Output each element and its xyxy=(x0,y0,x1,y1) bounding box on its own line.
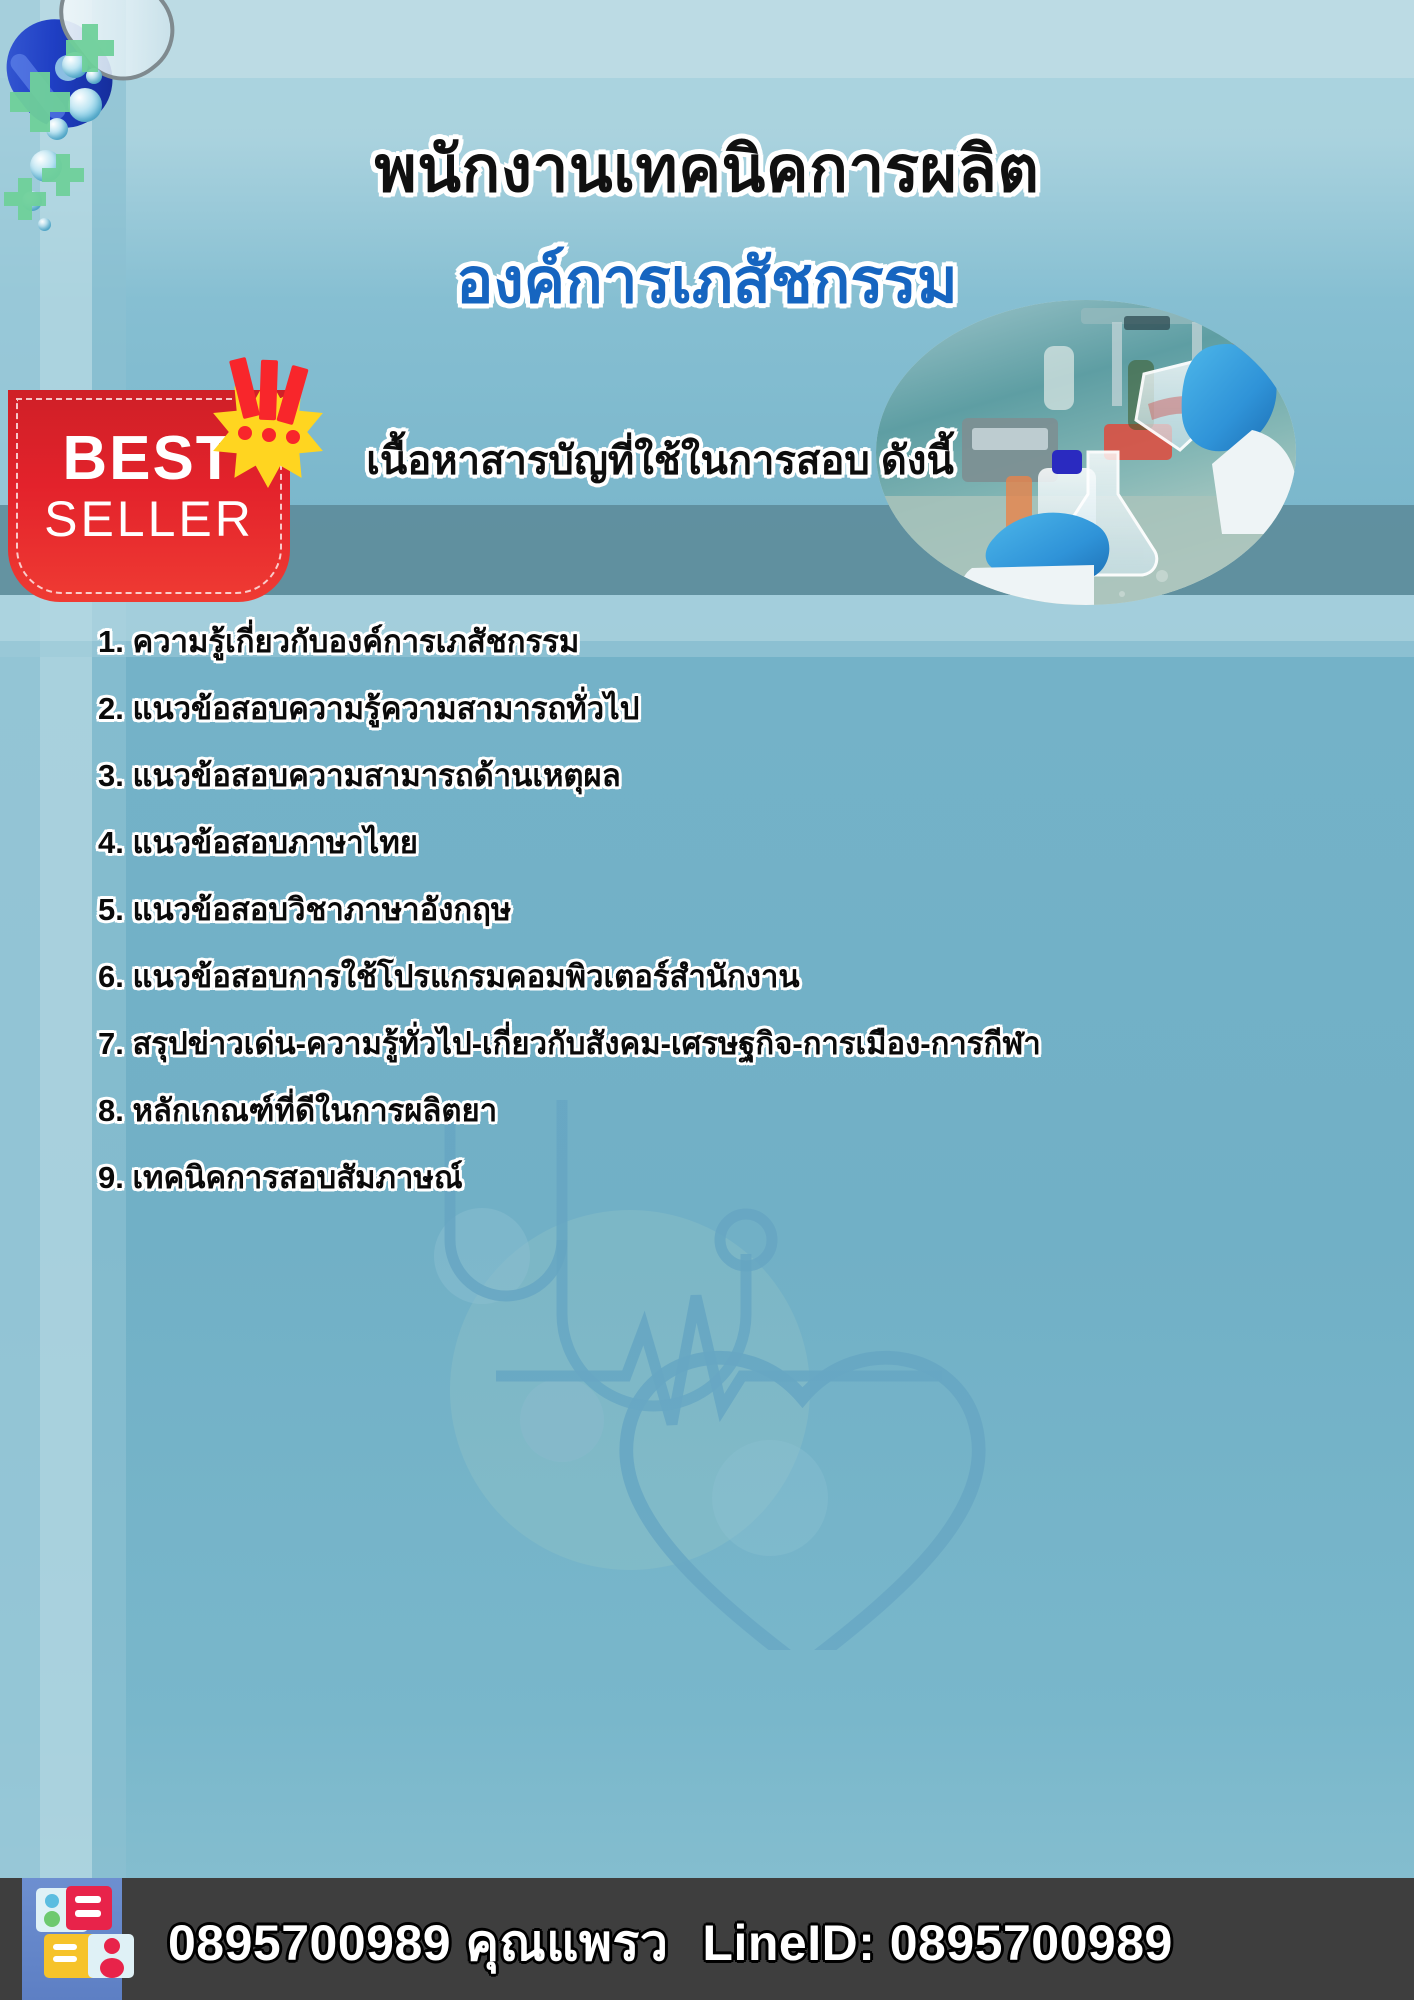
list-item: 4. แนวข้อสอบภาษาไทย xyxy=(98,823,1328,862)
footer-bar: 0895700989 คุณแพรวLineID: 0895700989 xyxy=(0,1878,1414,2000)
list-item: 6. แนวข้อสอบการใช้โปรแกรมคอมพิวเตอร์สำนั… xyxy=(98,957,1328,996)
list-item: 9. เทคนิคการสอบสัมภาษณ์ xyxy=(98,1158,1328,1197)
banner-heading: เนื้อหาสารบัญที่ใช้ในการสอบ ดังนี้ xyxy=(280,428,1040,492)
burst-bang-1 xyxy=(229,357,260,419)
burst-dot-2 xyxy=(262,428,276,442)
list-item: 5. แนวข้อสอบวิชาภาษาอังกฤษ xyxy=(98,890,1328,929)
list-item: 8. หลักเกณฑ์ที่ดีในการผลิตยา xyxy=(98,1091,1328,1130)
page-title: พนักงานเทคนิคการผลิต xyxy=(0,118,1414,220)
badge-seller-label: SELLER xyxy=(8,494,290,544)
footer-line-id: LineID: 0895700989 xyxy=(702,1915,1172,1971)
footer-phone: 0895700989 คุณแพรว xyxy=(168,1915,668,1971)
page-subtitle: องค์การเภสัชกรรม xyxy=(0,232,1414,330)
list-item: 7. สรุปข่าวเด่น-ความรู้ทั่วไป-เกี่ยวกับส… xyxy=(98,1024,1328,1063)
contents-list: 1. ความรู้เกี่ยวกับองค์การเภสัชกรรม 2. แ… xyxy=(98,622,1328,1225)
burst-dot-1 xyxy=(238,426,252,440)
footer-contact-text: 0895700989 คุณแพรวLineID: 0895700989 xyxy=(168,1904,1404,1983)
list-item: 3. แนวข้อสอบความสามารถด้านเหตุผล xyxy=(98,756,1328,795)
list-item: 2. แนวข้อสอบความรู้ความสามารถทั่วไป xyxy=(98,689,1328,728)
list-item: 1. ความรู้เกี่ยวกับองค์การเภสัชกรรม xyxy=(98,622,1328,661)
poster-root: พนักงานเทคนิคการผลิต องค์การเภสัชกรรม BE… xyxy=(0,0,1414,2000)
burst-bang-2 xyxy=(259,360,278,421)
contact-card-icon xyxy=(30,1884,158,1984)
contact-card-svg xyxy=(30,1884,158,1984)
